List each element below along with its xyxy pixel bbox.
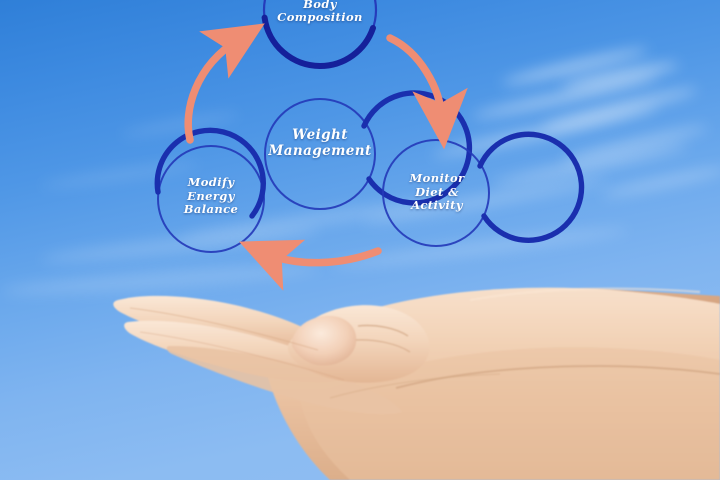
node-ring-thin [264,0,376,66]
diagram-screenshot: Measure Body Composition Weight Manageme… [0,0,720,480]
node-ring-thin [158,146,264,252]
node-ring-thick [480,134,582,240]
node-modify-energy-balance[interactable] [157,130,264,252]
arrow-left-to-top [188,40,238,140]
arrow-top-to-right [390,38,442,118]
node-ring-thick [320,28,373,66]
node-ring-thick [265,18,320,66]
weight-management-cycle-diagram: Measure Body Composition Weight Manageme… [0,0,720,480]
arrow-right-to-left [268,251,378,263]
node-measure-body-composition[interactable] [264,0,376,66]
node-ring-thick [157,130,263,216]
node-ring-thin [383,140,489,246]
node-ring-thin [265,99,375,209]
node-ring-thick [364,93,469,203]
node-monitor-diet-activity[interactable] [383,134,582,246]
